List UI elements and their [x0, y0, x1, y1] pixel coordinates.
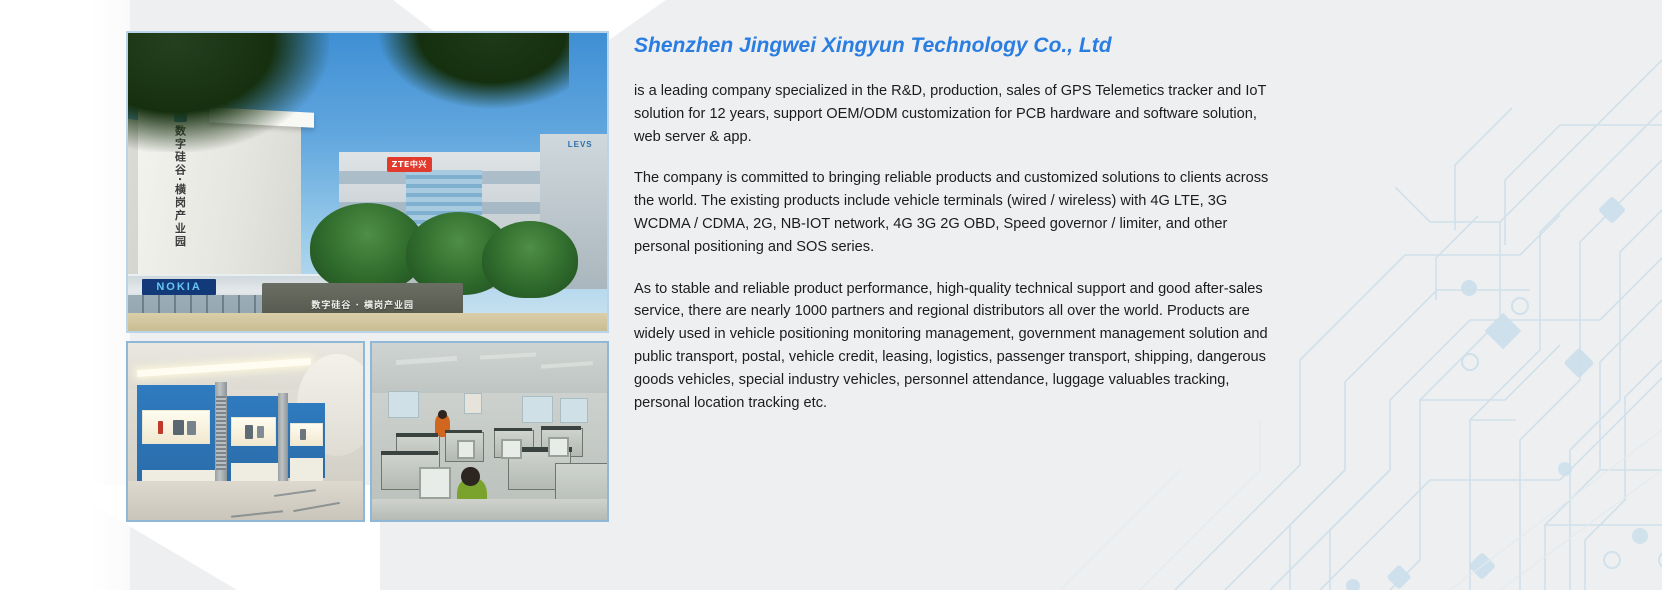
wall-window	[560, 398, 588, 423]
foreground-tree	[126, 31, 329, 152]
photo-company-building: LEVS ZTE中兴 数字硅谷·横岗产业园 NOKIA 数字硅谷 · 横岗产业园	[126, 31, 609, 333]
office-floor	[372, 499, 607, 520]
park-sign-label: 数字硅谷 · 横岗产业园	[311, 298, 414, 311]
monitor	[457, 440, 475, 458]
display-case	[142, 410, 210, 444]
display-case	[231, 417, 275, 446]
foreground-tree	[377, 31, 569, 110]
lev-sign: LEVS	[568, 140, 593, 149]
photo-exhibition-corridor	[126, 341, 365, 522]
photo-office-cubicles	[370, 341, 609, 522]
left-white-panel	[0, 0, 130, 590]
company-profile-banner: LEVS ZTE中兴 数字硅谷·横岗产业园 NOKIA 数字硅谷 · 横岗产业园	[0, 0, 1662, 590]
wall-window	[388, 391, 418, 418]
paragraph-products: The company is committed to bringing rel…	[634, 167, 1274, 258]
paragraph-intro: is a leading company specialized in the …	[634, 80, 1274, 148]
column	[278, 393, 287, 496]
cubicle-edge	[381, 451, 437, 455]
cubicle-edge	[445, 430, 483, 434]
photo-collage: LEVS ZTE中兴 数字硅谷·横岗产业园 NOKIA 数字硅谷 · 横岗产业园	[126, 31, 609, 522]
wall-window	[522, 396, 552, 423]
cubicle-edge	[541, 426, 581, 430]
zte-sign: ZTE中兴	[387, 157, 432, 172]
monitor	[501, 439, 521, 459]
office-ceiling	[372, 343, 607, 393]
monitor	[548, 437, 568, 457]
page-title: Shenzhen Jingwei Xingyun Technology Co.,…	[634, 34, 1274, 58]
wall-slats	[216, 396, 225, 470]
monitor	[419, 467, 451, 499]
cubicle-edge	[494, 428, 532, 432]
palm-tree	[482, 221, 578, 298]
ground-strip	[128, 313, 607, 331]
wall-poster	[464, 393, 482, 414]
company-description: Shenzhen Jingwei Xingyun Technology Co.,…	[634, 34, 1274, 414]
cubicle-edge	[396, 433, 438, 437]
paragraph-service: As to stable and reliable product perfor…	[634, 278, 1274, 415]
display-case	[290, 423, 323, 446]
nokia-sign: NOKIA	[142, 279, 215, 295]
